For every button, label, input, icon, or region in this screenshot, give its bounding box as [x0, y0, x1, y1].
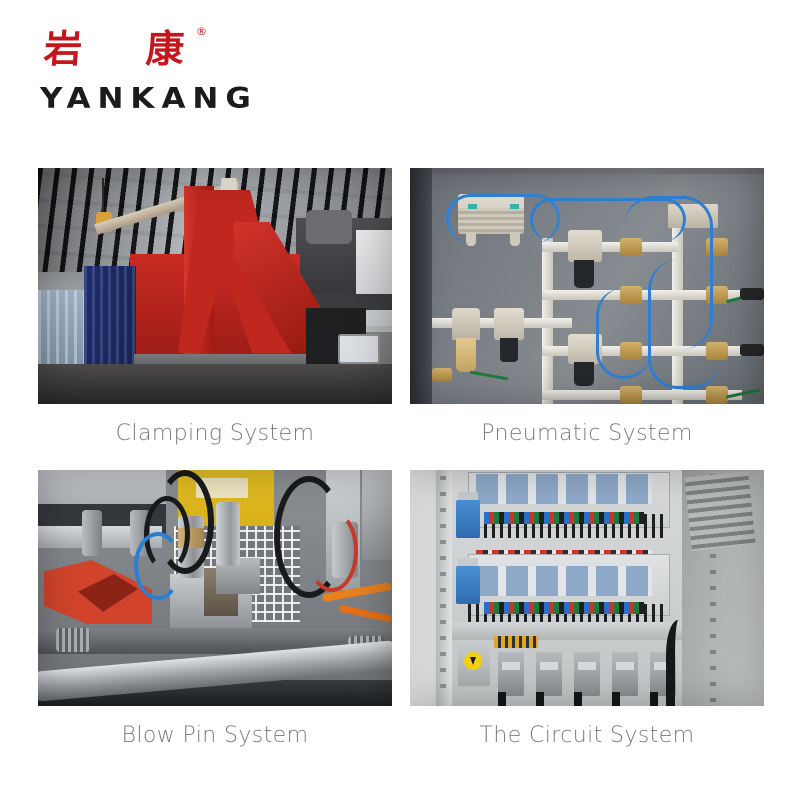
photo-vignette [38, 470, 392, 706]
photo-circuit-system [410, 470, 764, 706]
registered-trademark-icon: ® [196, 26, 207, 37]
photo-clamping-system [38, 168, 392, 404]
photo-vignette [410, 168, 764, 404]
gallery-card-blow-pin-system[interactable]: Blow Pin System [38, 470, 392, 754]
caption-circuit-system: The Circuit System [410, 720, 764, 754]
photo-blow-pin-system [38, 470, 392, 706]
systems-gallery-grid: Clamping System [38, 168, 764, 754]
product-showcase-page: 岩 康 ® YANKANG [0, 0, 800, 800]
photo-vignette [38, 168, 392, 404]
brand-char-kang: 康 [144, 26, 185, 72]
gallery-card-clamping-system[interactable]: Clamping System [38, 168, 392, 452]
gallery-card-circuit-system[interactable]: The Circuit System [410, 470, 764, 754]
caption-clamping-system: Clamping System [38, 418, 392, 452]
photo-vignette [410, 470, 764, 706]
brand-logo: 岩 康 ® YANKANG [38, 26, 298, 126]
gallery-card-pneumatic-system[interactable]: Pneumatic System [410, 168, 764, 452]
photo-pneumatic-system [410, 168, 764, 404]
brand-chinese-name: 岩 康 ® [38, 26, 238, 76]
brand-char-yan: 岩 [42, 26, 83, 72]
caption-pneumatic-system: Pneumatic System [410, 418, 764, 452]
caption-blow-pin-system: Blow Pin System [38, 720, 392, 754]
brand-wordmark: YANKANG [40, 82, 258, 115]
